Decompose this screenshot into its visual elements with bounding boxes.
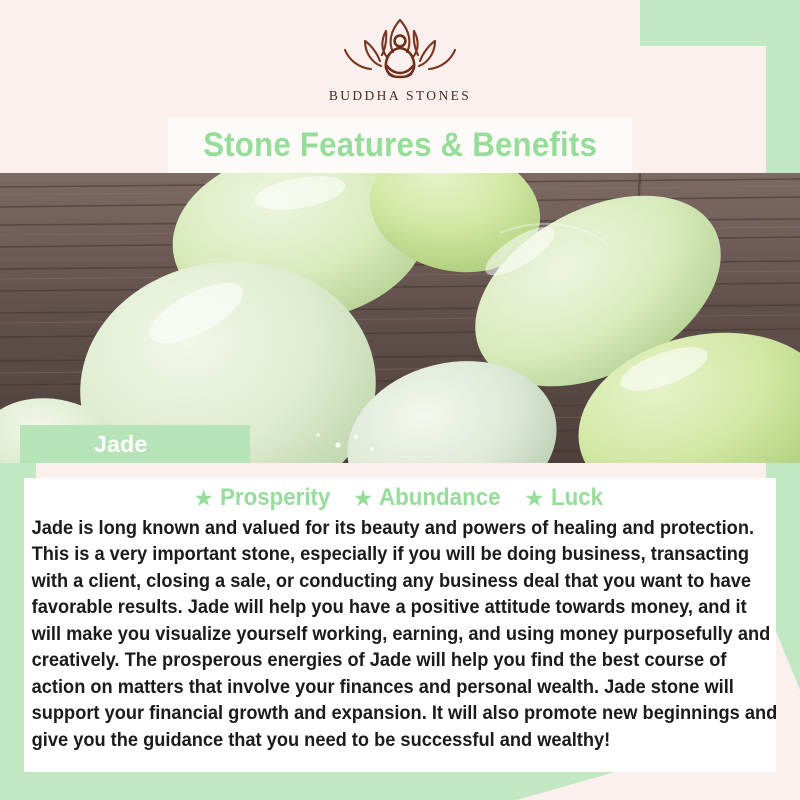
benefits-row: ★ Prosperity ★ Abundance ★ Luck	[24, 482, 776, 514]
benefit-item: ★ Prosperity	[193, 484, 338, 512]
content-panel: ★ Prosperity ★ Abundance ★ Luck Jade is …	[24, 478, 776, 772]
star-icon: ★	[193, 487, 214, 510]
stone-name-label: Jade	[94, 431, 148, 458]
benefit-label: Luck	[551, 484, 603, 512]
benefit-label: Prosperity	[220, 484, 330, 512]
stone-description: Jade is long known and valued for its be…	[24, 516, 786, 754]
star-icon: ★	[353, 487, 374, 510]
page-title-band: Stone Features & Benefits	[168, 118, 632, 173]
hero-photo	[0, 173, 800, 463]
benefit-label: Abundance	[379, 484, 501, 512]
benefit-item: ★ Abundance	[353, 484, 510, 512]
brand-name: BUDDHA STONES	[329, 88, 471, 104]
page-title: Stone Features & Benefits	[203, 126, 597, 165]
infographic-page: BUDDHA STONES Stone Features & Benefits	[0, 0, 800, 800]
benefit-item: ★ Luck	[524, 484, 607, 512]
star-icon: ★	[524, 487, 545, 510]
stone-name-band: Jade	[20, 425, 250, 463]
brand-logo: BUDDHA STONES	[0, 14, 800, 114]
lotus-meditation-icon	[325, 14, 475, 86]
decor-band-bottom	[0, 772, 615, 800]
